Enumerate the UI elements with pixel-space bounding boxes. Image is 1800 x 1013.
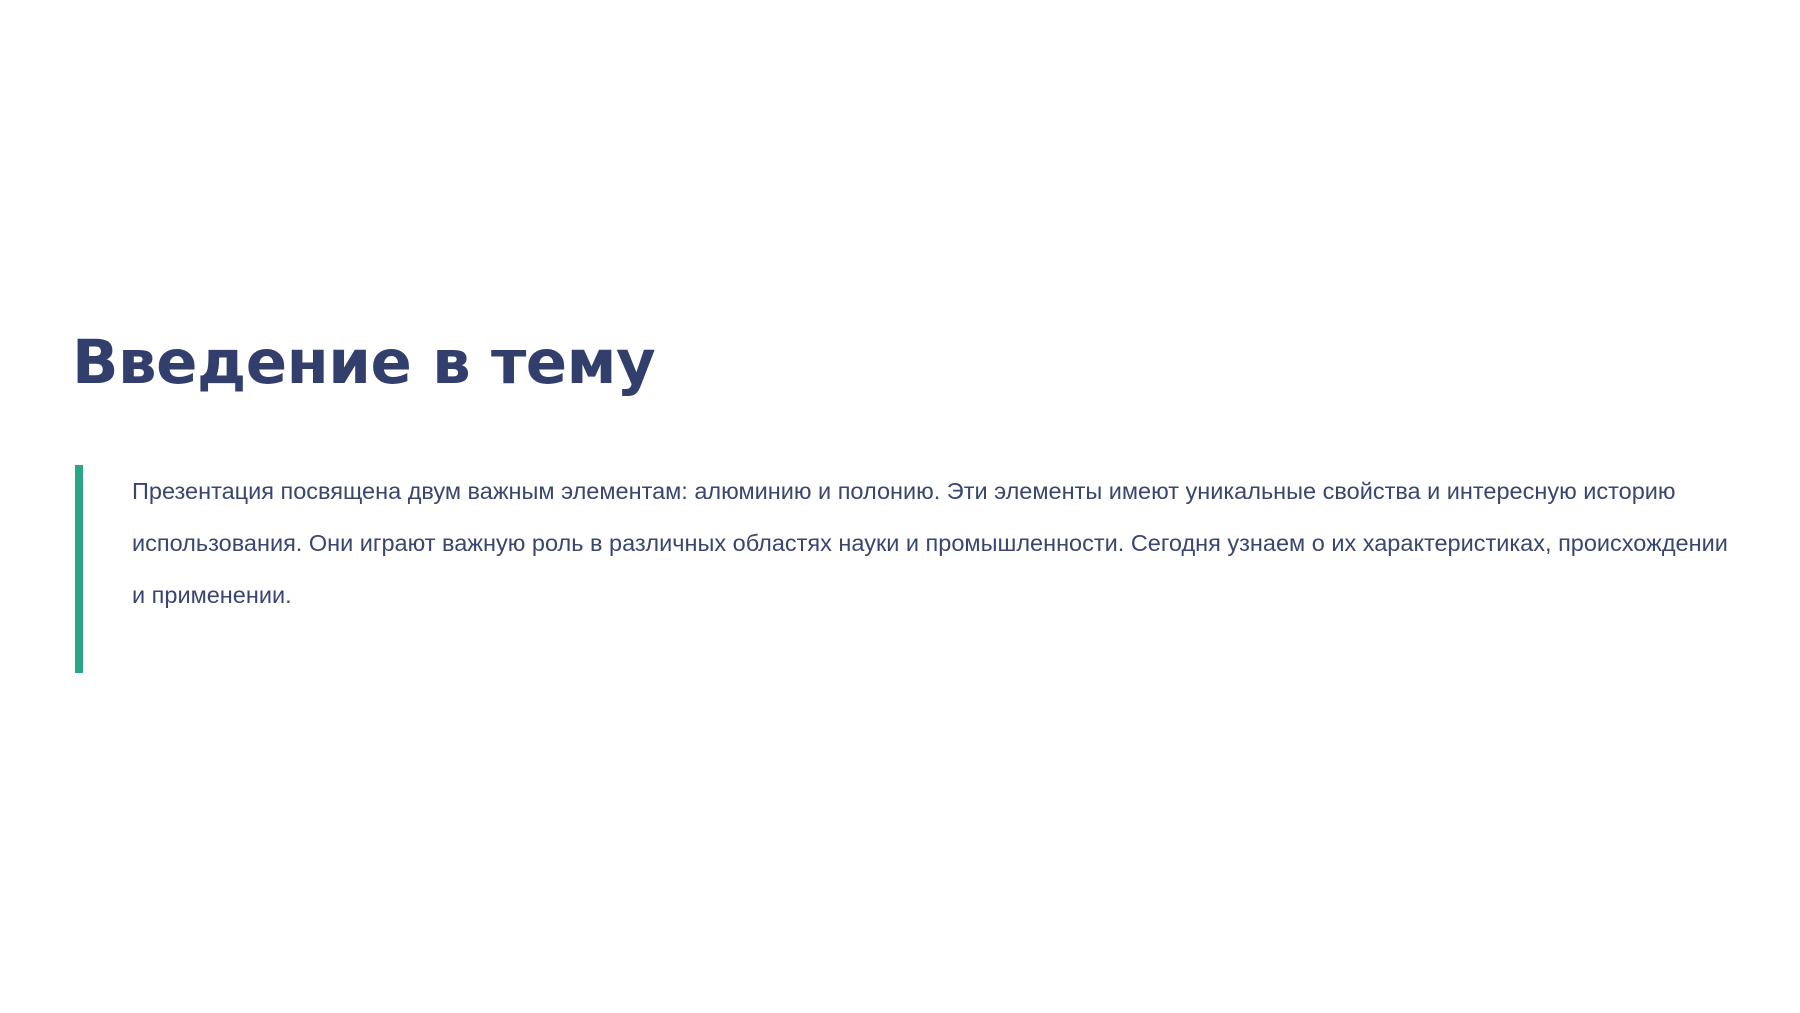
body-block: Презентация посвящена двум важным элемен… xyxy=(75,465,1747,673)
accent-bar xyxy=(75,465,83,673)
body-paragraph: Презентация посвящена двум важным элемен… xyxy=(83,465,1747,673)
slide-content: Введение в тему Презентация посвящена дв… xyxy=(0,0,1800,1013)
presentation-slide: Введение в тему Презентация посвящена дв… xyxy=(0,0,1800,1013)
page-title: Введение в тему xyxy=(72,330,655,396)
